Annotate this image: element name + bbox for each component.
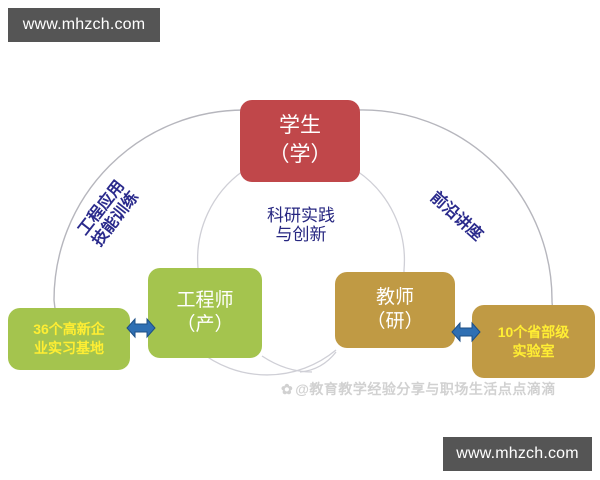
arc-label-center: 科研实践 与创新 — [246, 206, 356, 244]
arc-label-center-line1: 科研实践 — [246, 206, 356, 225]
node-internship-base[interactable]: 36个高新企 业实习基地 — [8, 308, 130, 370]
account-watermark: ✿@教育教学经验分享与职场生活点点滴滴 — [281, 379, 556, 399]
account-watermark-text: @教育教学经验分享与职场生活点点滴滴 — [295, 381, 556, 397]
node-student-line2: （学） — [269, 142, 332, 169]
double-arrow-right-icon — [451, 318, 481, 346]
node-teacher-line2: （研） — [366, 310, 423, 334]
node-laboratory-line1: 10个省部级 — [498, 323, 570, 342]
node-laboratory-line2: 实验室 — [513, 342, 555, 361]
node-internship-base-line1: 36个高新企 — [33, 320, 105, 339]
double-arrow-left-icon — [126, 314, 156, 342]
node-engineer-line1: 工程师 — [176, 289, 233, 313]
node-teacher-line1: 教师 — [376, 286, 414, 310]
inner-circle-upper-right — [357, 171, 404, 270]
node-engineer-line2: （产） — [176, 313, 233, 337]
node-student-line1: 学生 — [279, 113, 321, 140]
node-laboratory[interactable]: 10个省部级 实验室 — [472, 305, 595, 378]
node-teacher[interactable]: 教师 （研） — [335, 272, 455, 348]
diagram-canvas: 学生 （学） 工程师 （产） 教师 （研） 36个高新企 业实习基地 10个省部… — [0, 0, 600, 480]
flower-icon: ✿ — [281, 381, 293, 397]
watermark-chip-bottom: www.mhzch.com — [443, 437, 592, 471]
watermark-chip-top: www.mhzch.com — [8, 8, 160, 42]
node-internship-base-line2: 业实习基地 — [34, 339, 104, 358]
arc-label-center-line2: 与创新 — [246, 225, 356, 244]
node-student[interactable]: 学生 （学） — [240, 100, 360, 182]
node-engineer[interactable]: 工程师 （产） — [148, 268, 262, 358]
arc-bottom-left-link — [262, 356, 312, 372]
inner-circle-upper-left — [198, 171, 243, 268]
